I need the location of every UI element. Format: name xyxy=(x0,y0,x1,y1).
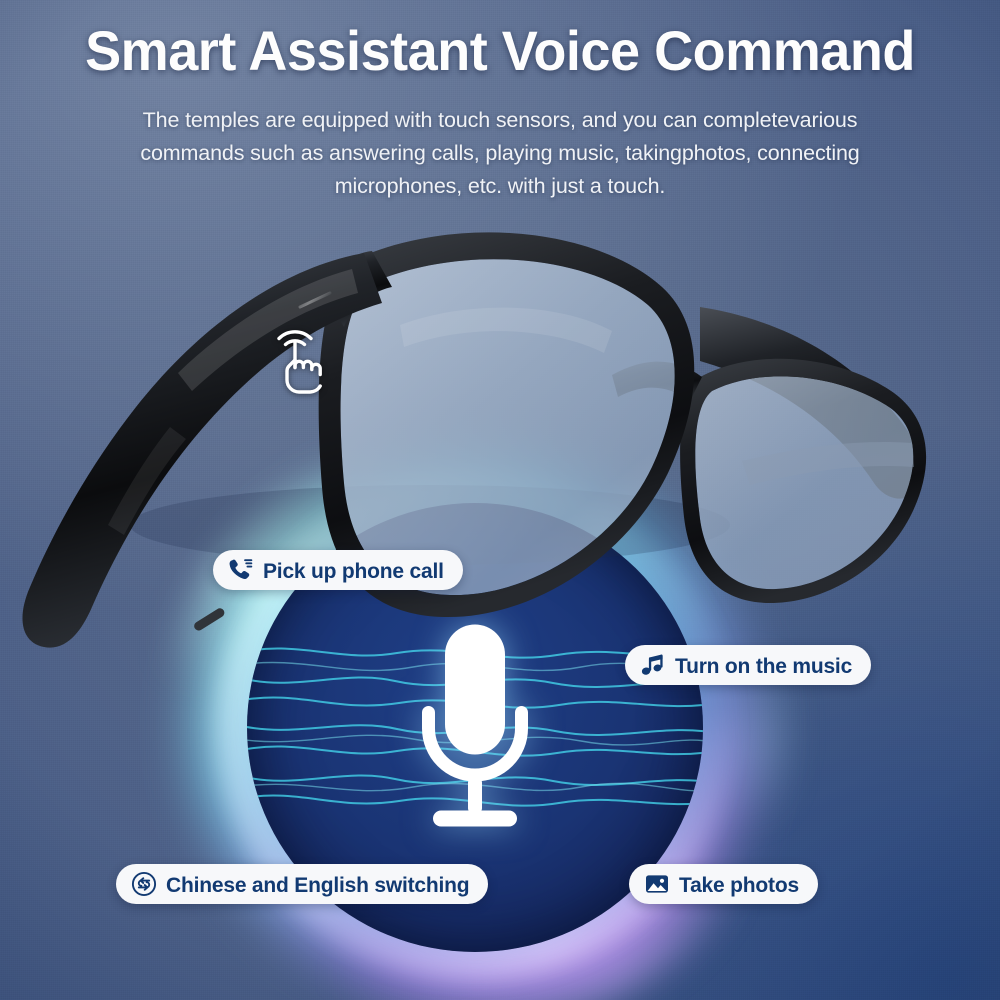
page-title: Smart Assistant Voice Command xyxy=(18,22,983,80)
feature-pill-turn-on-the-music[interactable]: Turn on the music xyxy=(625,645,871,685)
feature-pill-label: Take photos xyxy=(679,875,799,896)
feature-pill-label: Chinese and English switching xyxy=(166,875,469,896)
feature-pill-pick-up-phone-call[interactable]: Pick up phone call xyxy=(213,550,463,590)
poster-canvas: Smart Assistant Voice Command The temple… xyxy=(0,0,1000,1000)
feature-pill-label: Turn on the music xyxy=(675,656,852,677)
feature-pill-chinese-english-switching[interactable]: Chinese and English switching xyxy=(116,864,488,904)
header: Smart Assistant Voice Command The temple… xyxy=(0,0,1000,202)
page-subtitle: The temples are equipped with touch sens… xyxy=(105,104,895,202)
feature-pill-label: Pick up phone call xyxy=(263,561,444,582)
music-note-icon xyxy=(640,652,666,678)
touch-gesture-icon xyxy=(268,318,330,394)
photo-icon xyxy=(644,871,670,897)
smart-glasses-product-image xyxy=(0,195,1000,595)
feature-pill-take-photos[interactable]: Take photos xyxy=(629,864,818,904)
microphone-icon xyxy=(400,620,550,835)
language-switch-icon xyxy=(131,871,157,897)
phone-call-icon xyxy=(228,557,254,583)
